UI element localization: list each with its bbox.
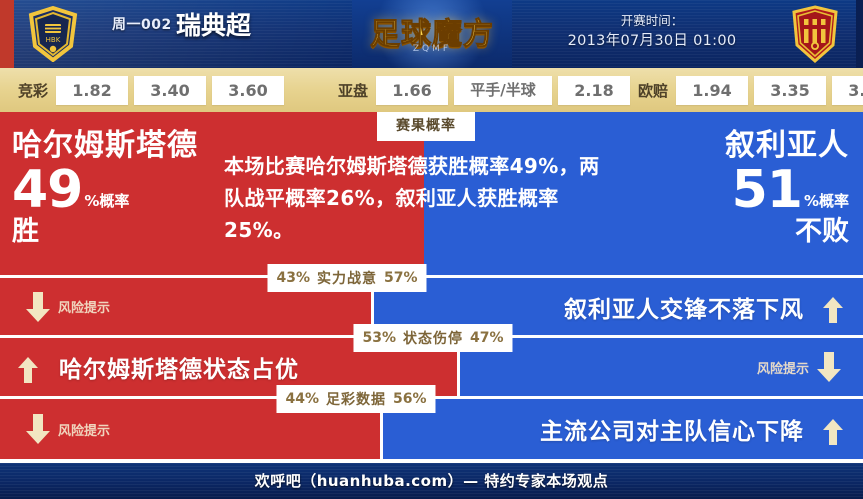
row0-metric-tag: 43% 实力战意 57% [267,264,426,292]
row1-metric-tag: 53% 状态伤停 47% [353,324,512,352]
odds-cell[interactable]: 3.40 [134,76,206,105]
away-team-block: 叙利亚人 51 %概率 不败 [599,128,849,247]
odds-group-yapan: 亚盘 1.66 平手/半球 2.18 [338,68,636,112]
home-verdict: 胜 [12,217,252,247]
row2-metric-tag: 44% 足彩数据 56% [276,385,435,413]
row0-metric-label: 实力战意 [317,268,377,288]
kickoff-datetime: 2013年07月30日 01:00 [537,31,767,52]
home-probability-number: 49 [12,164,82,216]
odds-cell[interactable]: 3.60 [212,76,284,105]
arrow-down-icon [26,292,50,322]
row2-away-headline: 主流公司对主队信心下降 [540,419,804,445]
footer-credit-text: 欢呼吧（huanhuba.com）— 特约专家本场观点 [0,463,863,499]
arrow-down-icon [26,414,50,444]
row2-home-risk: 风险提示 [26,414,110,444]
row1-home-headline-wrap: 哈尔姆斯塔德状态占优 [18,350,299,384]
probability-summary-text: 本场比赛哈尔姆斯塔德获胜概率49%，两队战平概率26%，叙利亚人获胜概率25%。 [224,150,618,246]
row1-metric-label: 状态伤停 [403,328,463,348]
odds-cell[interactable]: 1.82 [56,76,128,105]
away-team-crest-icon [791,5,839,63]
odds-bar: 竞彩 1.82 3.40 3.60 亚盘 1.66 平手/半球 2.18 欧赔 … [0,68,863,112]
arrow-up-icon [823,297,843,323]
footer-bar: 欢呼吧（huanhuba.com）— 特约专家本场观点 [0,463,863,499]
row1-away-risk: 风险提示 [757,352,841,382]
arrow-down-icon [817,352,841,382]
brand-logo[interactable]: 足球魔方 ZQMF [352,0,512,68]
odds-group-oupei: 欧赔 1.94 3.35 3.66 [638,68,863,112]
home-probability-value-line: 49 %概率 [12,164,252,216]
row1-away-pct: 47% [470,330,504,346]
odds-cell[interactable]: 1.66 [376,76,448,105]
probability-section-tab: 赛果概率 [377,112,475,141]
away-team-name: 叙利亚人 [599,128,849,164]
row0-away-headline-wrap: 叙利亚人交锋不落下风 [564,290,843,324]
match-header: HBK 周一002 瑞典超 足球魔方 ZQMF 开赛时间： 2013年07月30… [0,0,863,68]
odds-cell[interactable]: 3.66 [832,76,863,105]
row0-away-headline: 叙利亚人交锋不落下风 [564,297,804,323]
home-team-block: 哈尔姆斯塔德 49 %概率 胜 [12,128,252,247]
row0-home-risk-text: 风险提示 [58,297,110,316]
infographic-root: HBK 周一002 瑞典超 足球魔方 ZQMF 开赛时间： 2013年07月30… [0,0,863,499]
odds-group-title: 亚盘 [338,80,368,101]
row0-home-pct: 43% [276,270,310,286]
row0-away-pct: 57% [384,270,418,286]
league-name: 瑞典超 [176,6,251,42]
home-team-crest-icon: HBK [26,6,80,62]
odds-cell[interactable]: 2.18 [558,76,630,105]
kickoff-info: 开赛时间： 2013年07月30日 01:00 [537,10,767,52]
odds-group-title: 欧赔 [638,80,668,101]
brand-logo-subtext: ZQMF [352,44,512,54]
away-probability-value-line: 51 %概率 [599,164,849,216]
row1-home-pct: 53% [362,330,396,346]
result-probability-band: 赛果概率 哈尔姆斯塔德 49 %概率 胜 本场比赛哈尔姆斯塔德获胜概率49%，两… [0,112,863,275]
arrow-up-icon [823,419,843,445]
header-left-accent-bar [0,0,14,68]
match-round-label: 周一002 [112,14,172,34]
row1-away-risk-text: 风险提示 [757,358,809,377]
away-probability-suffix: %概率 [802,194,849,216]
odds-group-jingcai: 竞彩 1.82 3.40 3.60 [18,68,290,112]
row2-away-pct: 56% [393,391,427,407]
row1-home-headline: 哈尔姆斯塔德状态占优 [59,357,299,383]
away-probability-number: 51 [732,164,802,216]
odds-cell-handicap[interactable]: 平手/半球 [454,76,552,105]
row2-away-headline-wrap: 主流公司对主队信心下降 [540,412,843,446]
odds-cell[interactable]: 3.35 [754,76,826,105]
row0-home-risk: 风险提示 [26,292,110,322]
arrow-up-icon [18,357,38,383]
kickoff-label: 开赛时间： [537,10,767,31]
odds-group-title: 竞彩 [18,80,48,101]
odds-cell[interactable]: 1.94 [676,76,748,105]
row2-home-pct: 44% [285,391,319,407]
row2-metric-label: 足彩数据 [326,389,386,409]
comparison-row-betting-data: 44% 足彩数据 56% 风险提示 主流公司对主队信心下降 [0,399,863,459]
svg-text:HBK: HBK [46,36,61,44]
home-probability-suffix: %概率 [82,194,129,216]
row2-home-risk-text: 风险提示 [58,420,110,439]
home-team-name: 哈尔姆斯塔德 [12,128,252,164]
away-verdict: 不败 [599,217,849,247]
header-right-accent-bar [856,0,863,68]
